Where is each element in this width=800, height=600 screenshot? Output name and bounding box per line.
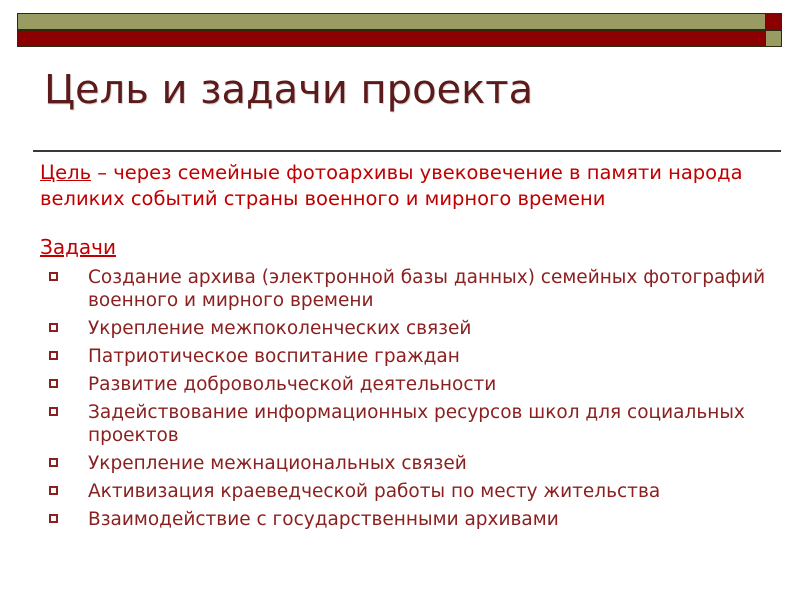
tasks-heading: Задачи (40, 234, 116, 260)
square-bullet-icon (49, 379, 58, 388)
goal-paragraph: Цель – через семейные фотоархивы увекове… (40, 160, 770, 212)
square-bullet-icon (49, 407, 58, 416)
square-bullet-icon (49, 272, 58, 281)
list-item-text: Укрепление межнациональных связей (88, 452, 770, 475)
decoration-segment-maroon-long (17, 30, 766, 47)
goal-label: Цель (40, 161, 91, 184)
list-item-text: Укрепление межпоколенческих связей (88, 317, 770, 340)
title-divider (33, 150, 781, 152)
square-bullet-icon (49, 323, 58, 332)
list-item-text: Активизация краеведческой работы по мест… (88, 480, 770, 503)
slide-title: Цель и задачи проекта (44, 66, 756, 114)
square-bullet-icon (49, 351, 58, 360)
square-bullet-icon (49, 486, 58, 495)
list-item: Укрепление межнациональных связей (40, 452, 770, 475)
square-bullet-icon (49, 458, 58, 467)
slide-body: Цель – через семейные фотоархивы увекове… (40, 160, 770, 536)
list-item-text: Создание архива (электронной базы данных… (88, 266, 770, 312)
decoration-segment-maroon-short (765, 13, 782, 30)
header-decoration-bar (17, 13, 783, 47)
list-item: Задействование информационных ресурсов ш… (40, 401, 770, 447)
decoration-row-top (17, 13, 783, 30)
square-bullet-icon (49, 514, 58, 523)
decoration-row-bottom (17, 30, 783, 47)
list-item-text: Взаимодействие с государственными архива… (88, 508, 770, 531)
list-item-text: Развитие добровольческой деятельности (88, 373, 770, 396)
decoration-segment-olive-long (17, 13, 766, 30)
tasks-list: Создание архива (электронной базы данных… (40, 266, 770, 531)
list-item: Укрепление межпоколенческих связей (40, 317, 770, 340)
list-item-text: Задействование информационных ресурсов ш… (88, 401, 770, 447)
slide: Цель и задачи проекта Цель – через семей… (0, 0, 800, 600)
decoration-segment-olive-short (765, 30, 782, 47)
list-item-text: Патриотическое воспитание граждан (88, 345, 770, 368)
list-item: Патриотическое воспитание граждан (40, 345, 770, 368)
list-item: Активизация краеведческой работы по мест… (40, 480, 770, 503)
list-item: Создание архива (электронной базы данных… (40, 266, 770, 312)
list-item: Взаимодействие с государственными архива… (40, 508, 770, 531)
list-item: Развитие добровольческой деятельности (40, 373, 770, 396)
goal-text: – через семейные фотоархивы увековечение… (40, 161, 743, 210)
